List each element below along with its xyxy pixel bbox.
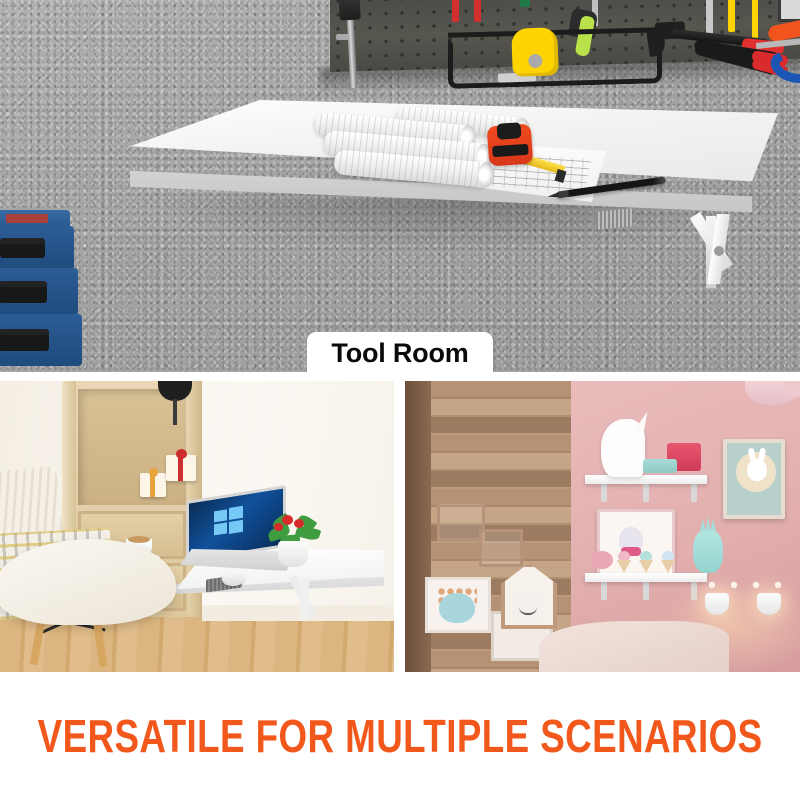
star-garland xyxy=(701,577,787,593)
lamp-pole xyxy=(173,399,177,425)
drill-chuck-icon xyxy=(336,34,349,40)
scene-label-tool-room: Tool Room xyxy=(307,332,493,372)
cube-shelf xyxy=(479,529,523,567)
promo-banner: VERSATILE FOR MULTIPLE SCENARIOS xyxy=(0,672,800,800)
shelf-bracket xyxy=(601,484,607,502)
shelf-bracket xyxy=(601,582,607,600)
hacksaw-handle-icon xyxy=(511,27,559,77)
white-chair xyxy=(0,539,176,625)
ice-cream-icon xyxy=(617,551,631,573)
ice-cream-icon xyxy=(661,551,675,573)
gift-box-icon xyxy=(166,455,196,481)
pineapple-lamp-icon xyxy=(693,529,723,573)
cabinet-recess xyxy=(78,389,186,505)
product-marketing-image: Tool Room xyxy=(0,0,800,800)
wall-shelf xyxy=(585,475,707,484)
scene-panel-tool-room: Tool Room xyxy=(0,0,800,372)
childrens-bed xyxy=(539,621,729,672)
yellow-tool-icon xyxy=(728,0,735,32)
shelf-bracket xyxy=(691,484,697,502)
green-tool-icon xyxy=(520,0,530,7)
shelf-bracket xyxy=(643,484,649,502)
cube-shelf xyxy=(437,501,485,541)
bedroom-baseboard xyxy=(202,605,394,621)
shelf-bracket xyxy=(643,582,649,600)
bedroom-bracket xyxy=(300,577,309,621)
tool-case xyxy=(0,226,74,270)
tape-measure-icon xyxy=(487,124,534,167)
heart-decor-icon xyxy=(439,593,475,623)
bracket-bolt xyxy=(714,246,724,256)
teal-toy-box xyxy=(643,459,677,473)
plant-pot xyxy=(278,541,308,567)
red-tool-icon xyxy=(452,0,459,22)
promo-headline: VERSATILE FOR MULTIPLE SCENARIOS xyxy=(38,713,763,759)
windows-logo-icon xyxy=(214,507,244,538)
scene-panel-bedroom: Bedroom xyxy=(0,381,394,672)
ice-cream-icon xyxy=(639,551,653,573)
bunny-cup-icon xyxy=(513,593,543,623)
tool-case-logo xyxy=(6,214,48,223)
bunny-icon xyxy=(747,459,767,481)
tool-box-icon xyxy=(778,0,800,22)
yellow-tool-icon xyxy=(752,0,758,40)
gift-box-icon xyxy=(140,473,166,497)
wall-lamp-icon xyxy=(757,593,781,615)
wrench-icon xyxy=(706,0,713,36)
desk-label-plate xyxy=(596,208,632,230)
piggy-bank-icon xyxy=(591,551,613,569)
red-tool-icon xyxy=(474,0,481,22)
tool-case xyxy=(0,314,82,366)
computer-mouse-icon xyxy=(222,571,244,586)
tool-case xyxy=(0,268,78,316)
wall-lamp-icon xyxy=(705,593,729,615)
scene-panel-childrens-room: Children's Room xyxy=(405,381,800,672)
